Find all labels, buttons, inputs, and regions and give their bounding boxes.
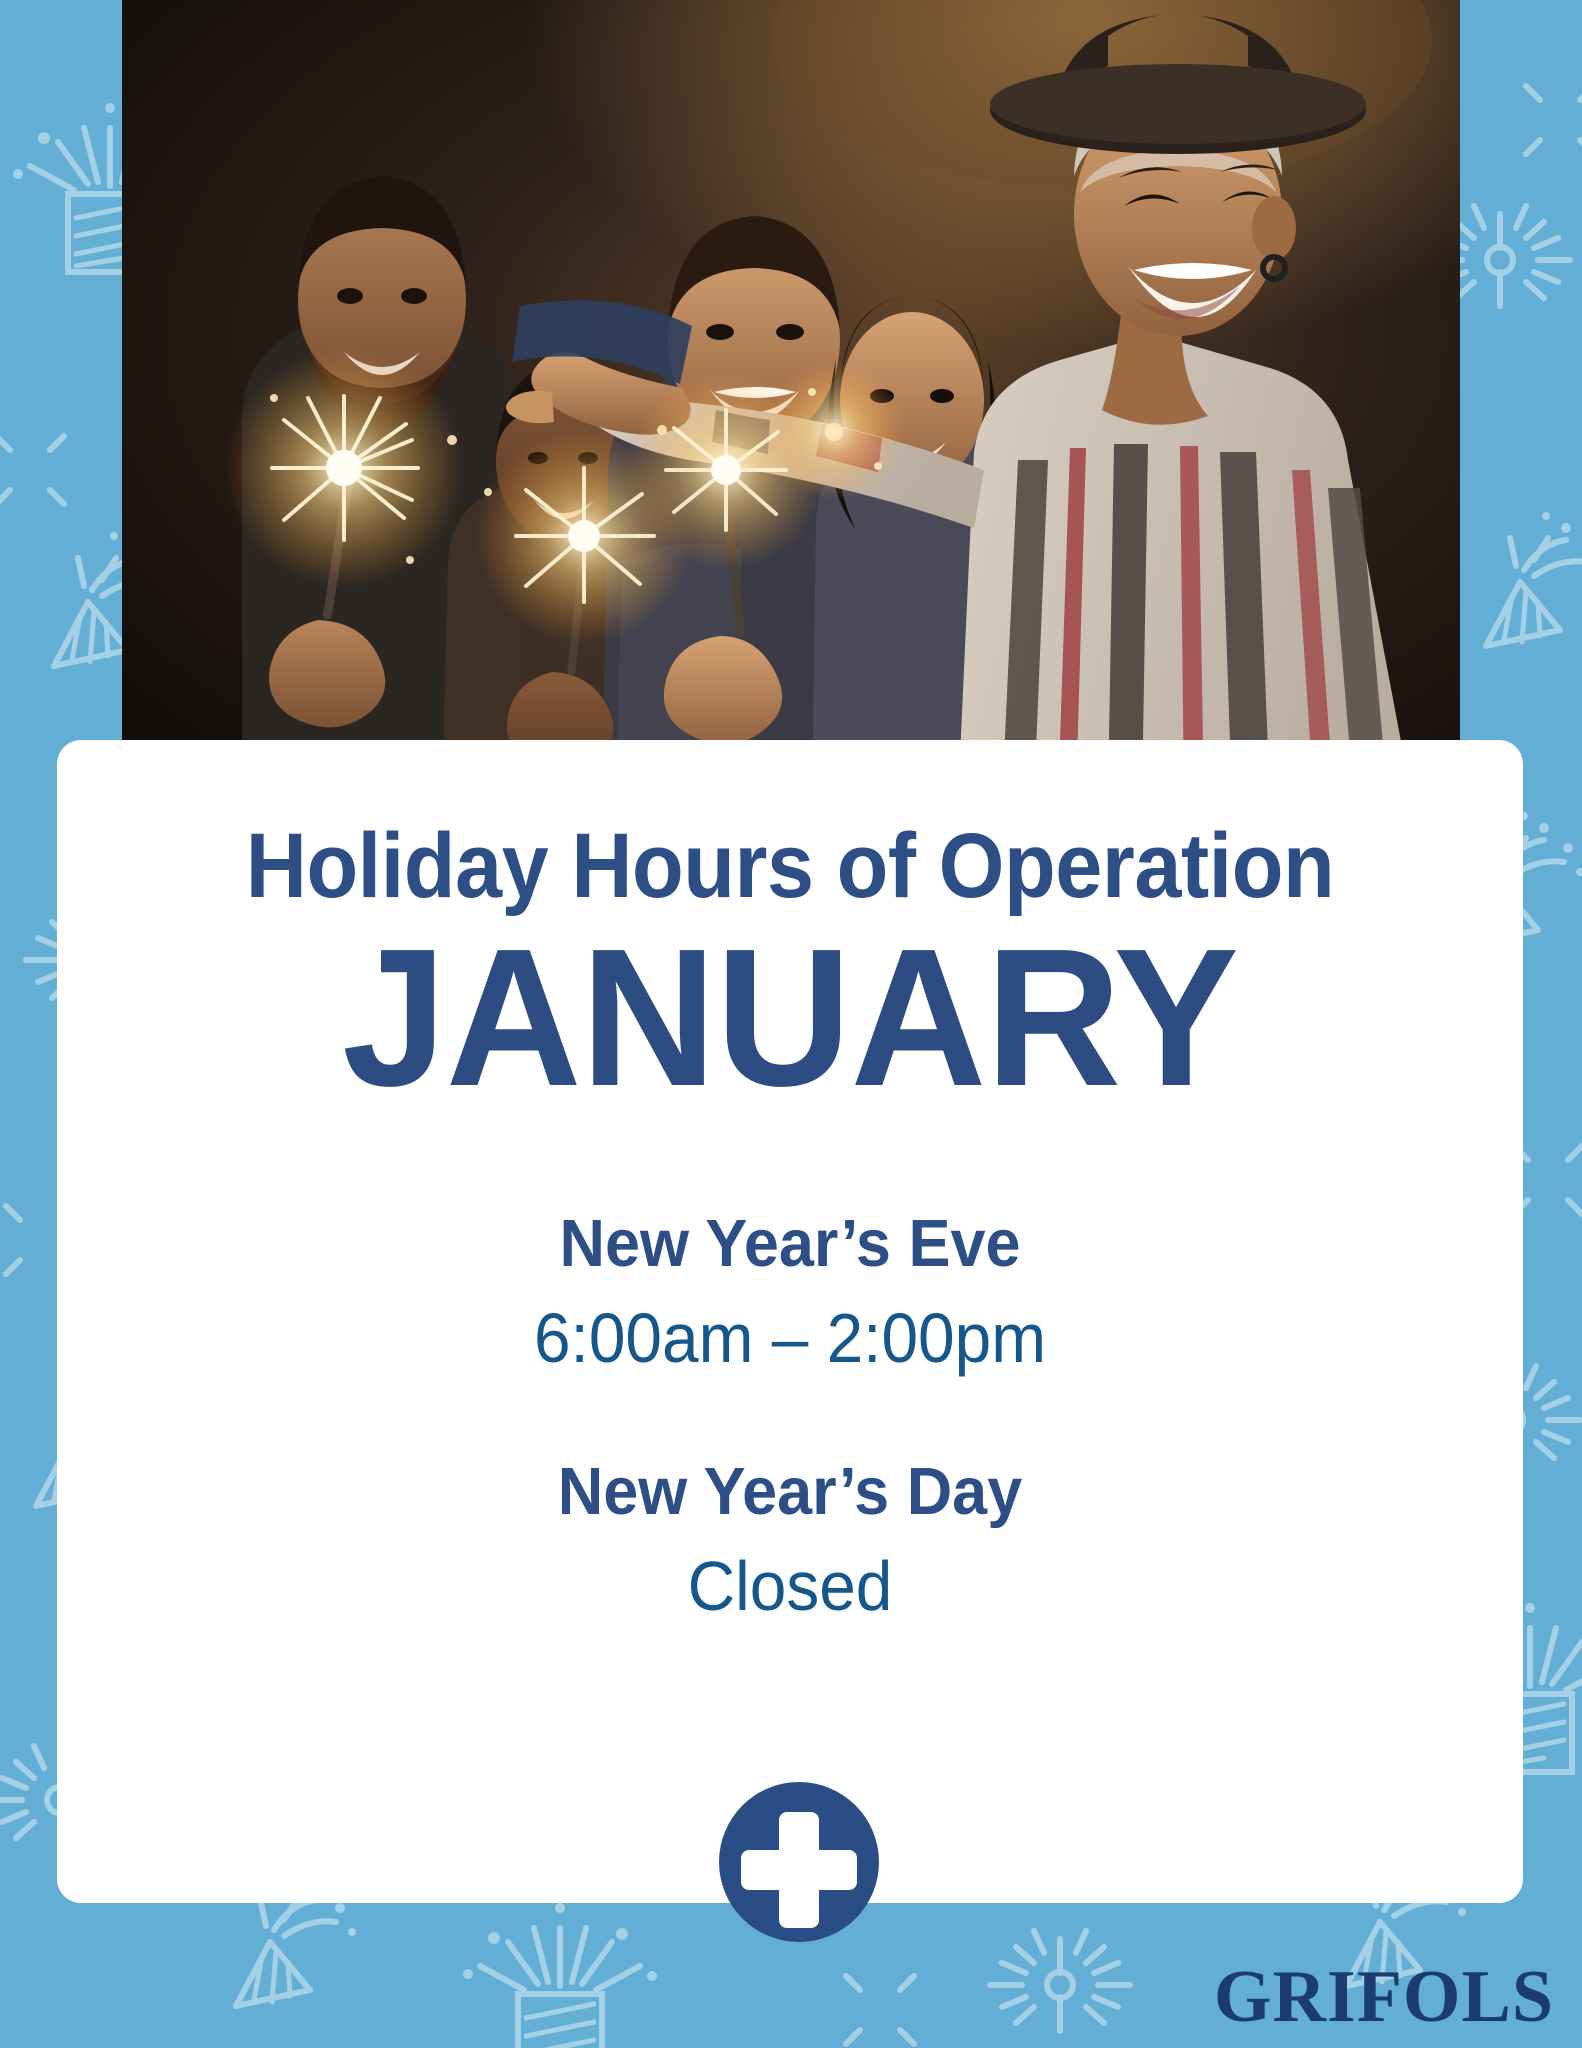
schedule-entry: New Year’s Day Closed [57, 1380, 1523, 1628]
month-title: JANUARY [86, 912, 1493, 1118]
hours-card: Holiday Hours of Operation JANUARY New Y… [57, 740, 1523, 1903]
hero-photo [122, 0, 1460, 800]
grifols-logo: GRIFOLS [1214, 1960, 1554, 2034]
hours-card-content: Holiday Hours of Operation JANUARY New Y… [57, 740, 1523, 1627]
schedule-list: New Year’s Eve 6:00am – 2:00pm New Year’… [57, 1118, 1523, 1627]
page-title: Holiday Hours of Operation [116, 740, 1465, 912]
schedule-entry-hours: 6:00am – 2:00pm [101, 1283, 1479, 1380]
schedule-entry-name: New Year’s Day [101, 1452, 1479, 1531]
schedule-entry-hours: Closed [101, 1531, 1479, 1628]
schedule-entry: New Year’s Eve 6:00am – 2:00pm [57, 1204, 1523, 1380]
holiday-hours-poster: Holiday Hours of Operation JANUARY New Y… [0, 0, 1582, 2048]
plus-circle-icon [719, 1782, 879, 1942]
schedule-entry-name: New Year’s Eve [101, 1204, 1479, 1283]
